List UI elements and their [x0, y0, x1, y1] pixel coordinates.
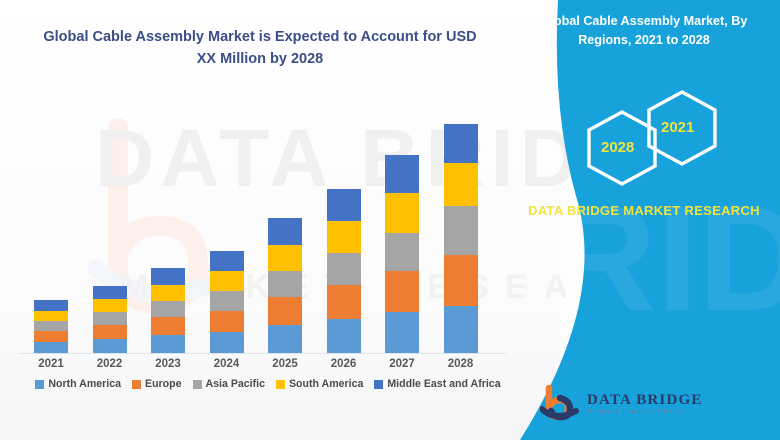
bar-segment [268, 245, 302, 271]
bar-segment [444, 306, 478, 353]
legend-label: North America [48, 378, 121, 390]
legend-item[interactable]: North America [35, 378, 121, 390]
hexagon-label-2021: 2021 [661, 119, 694, 136]
bar-segment [210, 291, 244, 311]
legend-swatch-icon [193, 380, 202, 389]
bar-segment [327, 253, 361, 285]
bar-segment [93, 299, 127, 312]
axis-baseline [18, 353, 506, 354]
x-axis-label-2022: 2022 [80, 358, 140, 370]
bar-segment [268, 218, 302, 245]
footer-logo-sub: MARKET RESEARCH [587, 410, 703, 416]
bar-segment [327, 221, 361, 253]
bar-segment [268, 325, 302, 353]
bar-segment [93, 339, 127, 353]
footer-logo: DATA BRIDGE MARKET RESEARCH [540, 384, 703, 424]
x-axis-label-2026: 2026 [314, 358, 374, 370]
bar-segment [444, 255, 478, 306]
x-axis-label-2023: 2023 [138, 358, 198, 370]
bar-2022 [93, 286, 127, 353]
bar-segment [210, 311, 244, 332]
chart-pane: DATA BRIDGE MARKET RESEARCH Global Cable… [0, 0, 560, 440]
bar-segment [93, 286, 127, 299]
bar-segment [385, 271, 419, 312]
legend-label: South America [289, 378, 363, 390]
bar-segment [34, 342, 68, 353]
bar-segment [444, 124, 478, 163]
panel-brand-text: DATA BRIDGE MARKET RESEARCH [524, 200, 764, 221]
bar-segment [34, 321, 68, 331]
bar-2026 [327, 189, 361, 353]
bar-segment [34, 311, 68, 321]
brand-panel: BRIDGE Global Cable Assembly Market, By … [480, 0, 780, 440]
footer-logo-main: DATA BRIDGE [587, 393, 703, 408]
legend-item[interactable]: Asia Pacific [193, 378, 265, 390]
data-bridge-b-logo-icon [540, 384, 580, 424]
plot-area: 20212022202320242025202620272028 [0, 0, 560, 440]
bar-segment [34, 331, 68, 342]
bar-segment [93, 325, 127, 339]
bar-segment [151, 317, 185, 335]
x-axis-label-2027: 2027 [372, 358, 432, 370]
legend-swatch-icon [35, 380, 44, 389]
bar-2024 [210, 251, 244, 353]
bar-segment [151, 285, 185, 301]
bar-segment [268, 297, 302, 325]
bar-segment [327, 189, 361, 221]
legend-item[interactable]: Europe [132, 378, 182, 390]
legend-swatch-icon [374, 380, 383, 389]
bar-segment [210, 332, 244, 353]
panel-heading: Global Cable Assembly Market, By Regions… [524, 12, 764, 50]
bar-segment [385, 155, 419, 193]
bar-2025 [268, 218, 302, 353]
hexagon-shapes-icon [564, 88, 744, 188]
bar-segment [210, 271, 244, 291]
bar-segment [385, 193, 419, 233]
hexagon-label-2028: 2028 [601, 139, 634, 156]
hexagon-group: 2021 2028 [564, 88, 744, 188]
bar-segment [444, 206, 478, 255]
bar-segment [34, 300, 68, 311]
bar-segment [444, 163, 478, 206]
legend-label: Asia Pacific [206, 378, 265, 390]
bar-segment [268, 271, 302, 297]
legend-swatch-icon [276, 380, 285, 389]
chart-legend: North AmericaEuropeAsia PacificSouth Ame… [18, 378, 518, 390]
x-axis-label-2021: 2021 [21, 358, 81, 370]
bar-2028 [444, 124, 478, 353]
bar-2023 [151, 268, 185, 353]
bar-2027 [385, 155, 419, 353]
infographic-canvas: DATA BRIDGE MARKET RESEARCH Global Cable… [0, 0, 780, 440]
bar-segment [327, 319, 361, 353]
bar-segment [327, 285, 361, 319]
bar-segment [385, 233, 419, 271]
x-axis-label-2025: 2025 [255, 358, 315, 370]
legend-label: Europe [145, 378, 182, 390]
bar-segment [151, 301, 185, 317]
bar-segment [210, 251, 244, 271]
x-axis-label-2024: 2024 [197, 358, 257, 370]
bar-segment [385, 312, 419, 353]
bar-segment [151, 268, 185, 285]
legend-swatch-icon [132, 380, 141, 389]
bar-2021 [34, 300, 68, 353]
legend-item[interactable]: South America [276, 378, 363, 390]
bar-segment [151, 335, 185, 353]
bar-segment [93, 312, 127, 325]
